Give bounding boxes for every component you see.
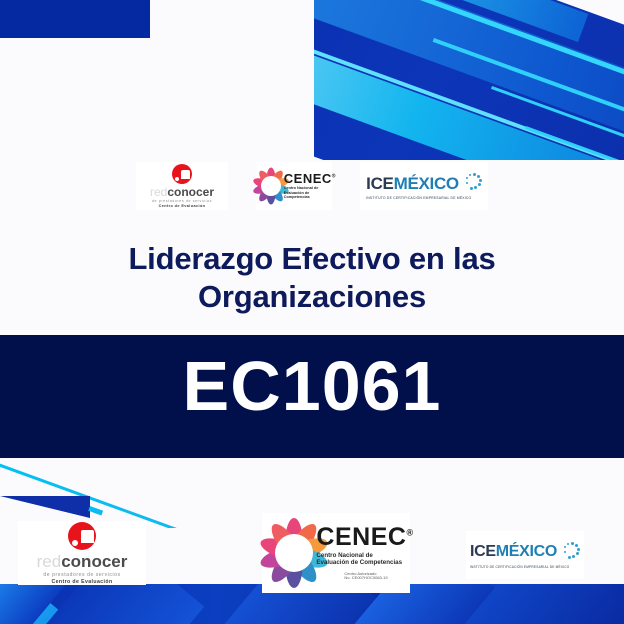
ice-mexico-word-blue: MÉXICO xyxy=(394,175,459,192)
ice-mexico-swirl-icon-bottom xyxy=(558,541,580,563)
red-conocer-word-bold-bottom: conocer xyxy=(61,552,127,571)
ice-mexico-swirl-icon xyxy=(460,172,482,194)
deco-highlight-5 xyxy=(525,126,624,160)
ice-mexico-subtitle: INSTITUTO DE CERTIFICACIÓN EMPRESARIAL D… xyxy=(366,196,482,200)
bottom-logo-row: redconocer de prestadores de servicios C… xyxy=(0,513,624,585)
red-conocer-subtitle-1-bottom: de prestadores de servicios xyxy=(43,572,120,578)
ice-mexico-lockup: ICE MÉXICO INSTITUTO DE CERTIFICAC xyxy=(366,172,482,200)
deco-band-3 xyxy=(314,30,624,160)
red-conocer-subtitle-1: de prestadores de servicios xyxy=(152,199,212,203)
deco-band-1 xyxy=(314,0,624,160)
cenec-logo-top: CENEC® Centro Nacional de Evaluación de … xyxy=(256,162,332,210)
red-conocer-lockup-bottom: redconocer de prestadores de servicios C… xyxy=(37,522,128,585)
cenec-textblock: CENEC® Centro Nacional de Evaluación de … xyxy=(284,172,336,199)
cenec-lockup: CENEC® Centro Nacional de Evaluación de … xyxy=(252,167,336,205)
cenec-subtitle-1-bottom: Centro Nacional de xyxy=(316,552,413,559)
course-title-line-1: Liderazgo Efectivo en las xyxy=(0,240,624,278)
cenec-subtitle-2-bottom: Evaluación de Competencias xyxy=(316,559,413,566)
red-conocer-word-bold: conocer xyxy=(167,185,214,199)
red-conocer-logo-bottom: redconocer de prestadores de servicios C… xyxy=(18,521,146,585)
red-conocer-word-light-bottom: red xyxy=(37,552,62,571)
ice-mexico-word-blue-bottom: MÉXICO xyxy=(496,544,557,560)
ice-mexico-word-dark-bottom: ICE xyxy=(470,544,496,560)
deco-highlight-3 xyxy=(433,38,624,131)
certification-poster: redconocer de prestadores de servicios C… xyxy=(0,0,624,624)
red-conocer-mark-icon-bottom xyxy=(68,522,96,550)
deco-band-2 xyxy=(314,0,624,160)
red-conocer-subtitle-2-bottom: Centro de Evaluación xyxy=(51,579,112,585)
deco-highlight-1 xyxy=(314,24,624,160)
course-title-line-2: Organizaciones xyxy=(0,278,624,316)
cenec-textblock-bottom: CENEC® Centro Nacional de Evaluación de … xyxy=(316,525,413,580)
top-logo-row: redconocer de prestadores de servicios C… xyxy=(0,162,624,210)
deco-band-4 xyxy=(334,0,589,42)
cenec-registered-mark-bottom: ® xyxy=(406,528,413,538)
red-conocer-lockup: redconocer de prestadores de servicios C… xyxy=(150,164,214,208)
footer-stripe-2 xyxy=(0,584,76,624)
cenec-logo-bottom: CENEC® Centro Nacional de Evaluación de … xyxy=(262,513,410,593)
cenec-auth-line-2: No. CE007HOC0063-19 xyxy=(344,576,413,581)
cenec-registered-mark: ® xyxy=(332,174,336,180)
ice-mexico-word-dark: ICE xyxy=(366,175,393,192)
standard-code: EC1061 xyxy=(0,351,624,421)
ice-mexico-subtitle-bottom: INSTITUTO DE CERTIFICACIÓN EMPRESARIAL D… xyxy=(470,565,580,569)
ice-mexico-logo-bottom: ICE MÉXICO INSTITUTO DE CERTIFICAC xyxy=(466,531,584,579)
cenec-word-bottom: CENEC xyxy=(316,523,406,551)
red-conocer-word-light: red xyxy=(150,185,167,199)
top-left-blue-bar xyxy=(0,0,150,38)
top-right-diagonal-graphics xyxy=(314,0,624,160)
red-conocer-subtitle-2: Centro de Evaluación xyxy=(159,204,206,208)
red-conocer-mark-icon xyxy=(172,164,192,184)
deco-highlight-4 xyxy=(491,86,624,147)
ice-mexico-wordmark-row: ICE MÉXICO xyxy=(366,172,482,194)
red-conocer-logo-top: redconocer de prestadores de servicios C… xyxy=(136,162,228,210)
cenec-word: CENEC xyxy=(284,171,332,186)
red-conocer-wordmark-bottom: redconocer xyxy=(37,553,128,570)
cenec-lockup-bottom: CENEC® Centro Nacional de Evaluación de … xyxy=(258,517,413,589)
cenec-wordmark-bottom: CENEC® xyxy=(316,525,413,550)
ice-mexico-logo-top: ICE MÉXICO INSTITUTO DE CERTIFICAC xyxy=(360,162,488,210)
red-conocer-wordmark: redconocer xyxy=(150,186,214,198)
footer-stripe-6 xyxy=(444,584,624,624)
footer-stripe-3 xyxy=(30,584,204,624)
cenec-wordmark: CENEC® xyxy=(284,172,336,185)
footer-stripe-1 xyxy=(0,584,103,624)
cenec-subtitle-2: Evaluación de Competencias xyxy=(284,191,336,200)
ice-mexico-wordmark-row-bottom: ICE MÉXICO xyxy=(470,541,580,563)
ice-mexico-lockup-bottom: ICE MÉXICO INSTITUTO DE CERTIFICAC xyxy=(470,541,580,569)
course-title: Liderazgo Efectivo en las Organizaciones xyxy=(0,240,624,316)
deco-highlight-2 xyxy=(372,0,624,85)
